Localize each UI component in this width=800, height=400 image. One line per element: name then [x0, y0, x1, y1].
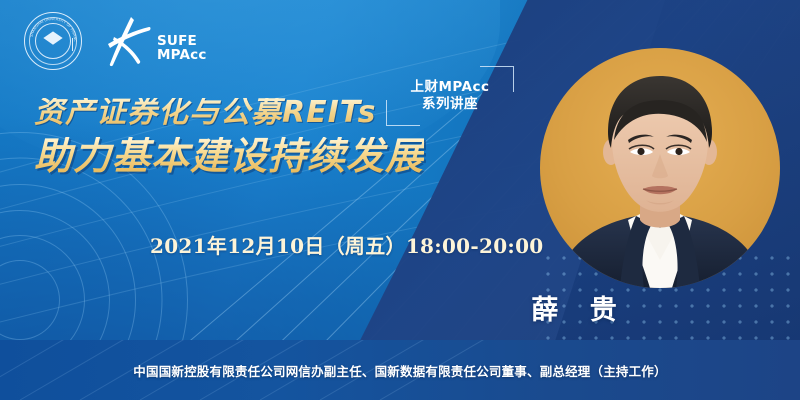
speaker-portrait-photo: [540, 48, 780, 288]
sufe-logo-line2: MPAcc: [157, 48, 207, 63]
event-datetime: 2021年12月10日（周五）18:00-20:00: [150, 230, 544, 259]
logo-group: SHANGHAI UNIVERSITY OF FINANCE SUFE MPAc…: [24, 12, 207, 70]
speaker-name: 薛 贵: [484, 288, 664, 327]
sufe-mpacc-logo: SUFE MPAcc: [104, 14, 207, 68]
badge-line1: 上财MPAcc: [410, 81, 489, 95]
headline-line-1: 资产证券化与公募REITs: [34, 98, 424, 128]
lecture-poster: SHANGHAI UNIVERSITY OF FINANCE SUFE MPAc…: [0, 0, 800, 400]
headline-line-2: 助力基本建设持续发展: [34, 137, 424, 175]
headline-block: 资产证券化与公募REITs 助力基本建设持续发展: [34, 98, 424, 175]
badge-line2: 系列讲座: [422, 98, 478, 112]
swoosh-a-icon: [104, 14, 152, 68]
sufe-logo-line1: SUFE: [157, 34, 207, 49]
speaker-title-caption: 中国国新控股有限责任公司网信办副主任、国新数据有限责任公司董事、副总经理（主持工…: [0, 361, 800, 380]
speaker-portrait: [540, 48, 780, 288]
sufe-seal-icon: SHANGHAI UNIVERSITY OF FINANCE: [24, 12, 82, 70]
